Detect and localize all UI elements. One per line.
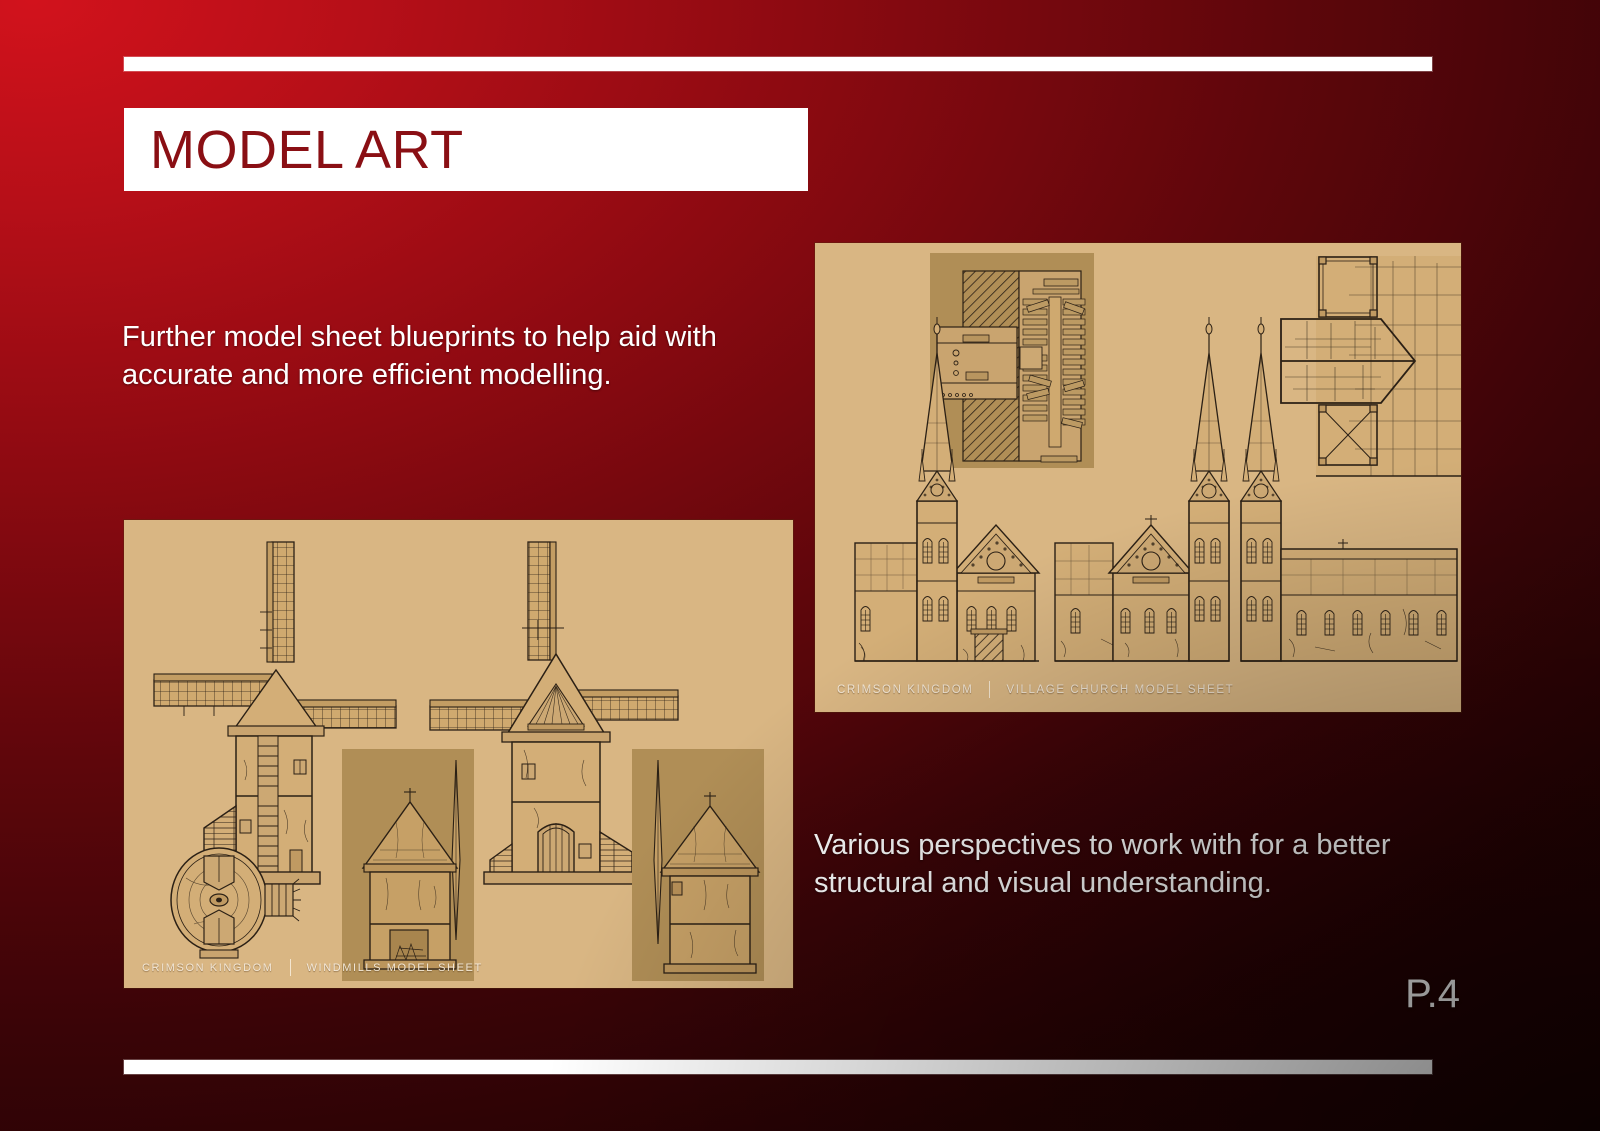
- windmill-sheet-label: WINDMILLS MODEL SHEET: [307, 962, 483, 974]
- church-roof-framing-plan: [1281, 256, 1461, 476]
- bottom-rule: [124, 1060, 1432, 1074]
- title-box: MODEL ART: [124, 108, 808, 191]
- top-rule: [124, 57, 1432, 71]
- church-sheet-label: VILLAGE CHURCH MODEL SHEET: [1006, 684, 1234, 696]
- right-paragraph: Various perspectives to work with for a …: [814, 826, 1454, 903]
- left-paragraph: Further model sheet blueprints to help a…: [122, 318, 762, 395]
- tower-view-inset-right: [632, 749, 764, 981]
- caption-divider: [989, 681, 990, 698]
- church-sheet-drawing: [815, 243, 1461, 712]
- church-model-sheet: CRIMSON KINGDOM VILLAGE CHURCH MODEL SHE…: [815, 243, 1461, 712]
- tower-view-inset-left: [342, 749, 474, 981]
- windmill-sheet-caption: CRIMSON KINGDOM WINDMILLS MODEL SHEET: [142, 959, 483, 976]
- church-sheet-brand: CRIMSON KINGDOM: [837, 684, 973, 696]
- church-sheet-caption: CRIMSON KINGDOM VILLAGE CHURCH MODEL SHE…: [837, 681, 1234, 698]
- windmill-sheet-drawing: [124, 520, 793, 988]
- church-floor-plan-inset: [930, 253, 1094, 468]
- windmill-sheet-brand: CRIMSON KINGDOM: [142, 962, 274, 974]
- windmill-model-sheet: CRIMSON KINGDOM WINDMILLS MODEL SHEET: [124, 520, 793, 988]
- page-title: MODEL ART: [124, 123, 464, 177]
- page-number: P.4: [1330, 972, 1460, 1017]
- slide-model-art: MODEL ART Further model sheet blueprints…: [0, 0, 1600, 1131]
- caption-divider: [290, 959, 291, 976]
